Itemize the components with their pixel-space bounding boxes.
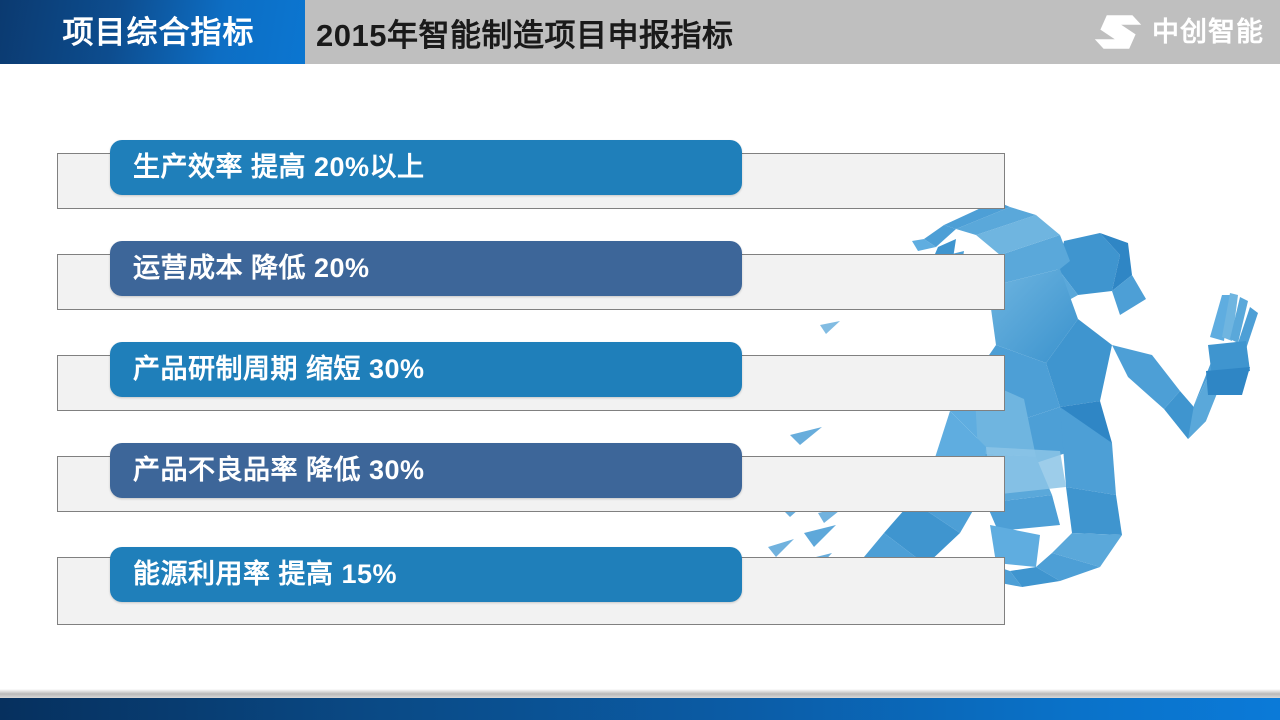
metric-pill[interactable]: 运营成本 降低 20% <box>110 241 742 296</box>
footer-divider <box>0 689 1280 698</box>
metric-pill[interactable]: 产品不良品率 降低 30% <box>110 443 742 498</box>
metric-pill-label: 运营成本 降低 20% <box>133 255 370 282</box>
metric-row[interactable]: 能源利用率 提高 15% <box>57 557 1005 625</box>
metric-pill[interactable]: 生产效率 提高 20%以上 <box>110 140 742 195</box>
footer-accent-bar <box>0 698 1280 720</box>
metric-row[interactable]: 产品不良品率 降低 30% <box>57 456 1005 512</box>
metric-row[interactable]: 生产效率 提高 20%以上 <box>57 153 1005 209</box>
metric-pill-label: 产品研制周期 缩短 30% <box>133 356 425 383</box>
metric-pill[interactable]: 产品研制周期 缩短 30% <box>110 342 742 397</box>
metric-row[interactable]: 产品研制周期 缩短 30% <box>57 355 1005 411</box>
metric-pill-label: 能源利用率 提高 15% <box>133 561 397 588</box>
metric-pill[interactable]: 能源利用率 提高 15% <box>110 547 742 602</box>
metric-pill-label: 产品不良品率 降低 30% <box>133 457 425 484</box>
metric-pill-label: 生产效率 提高 20%以上 <box>133 154 425 181</box>
metrics-list: 生产效率 提高 20%以上 运营成本 降低 20% 产品研制周期 缩短 30% … <box>0 0 1280 720</box>
metric-row[interactable]: 运营成本 降低 20% <box>57 254 1005 310</box>
slide-canvas: 项目综合指标 2015年智能制造项目申报指标 中创智能 <box>0 0 1280 720</box>
